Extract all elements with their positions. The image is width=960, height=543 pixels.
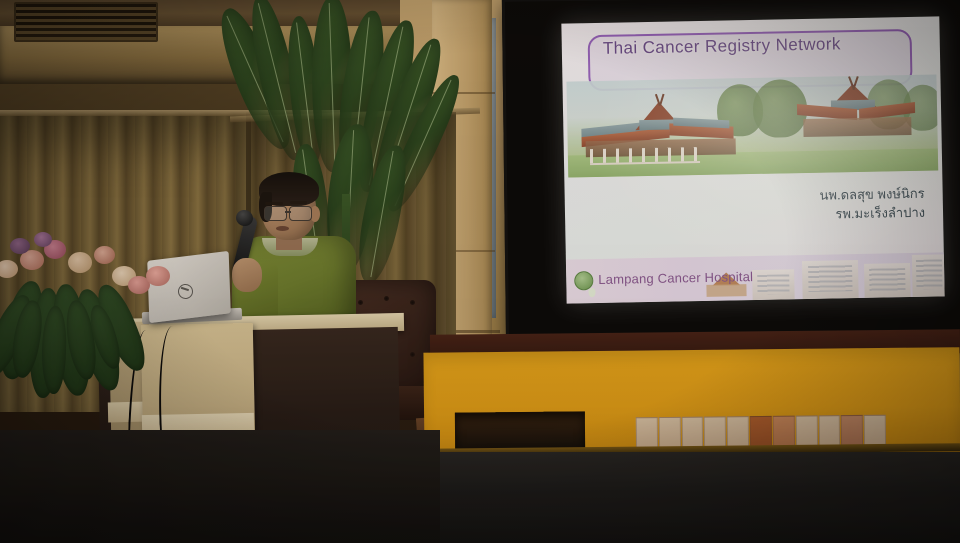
slide-speaker-block: นพ.ดลสุข พงษ์นิกร รพ.มะเร็งลำปาง bbox=[819, 185, 925, 225]
rose-peach bbox=[94, 246, 115, 264]
presentation-room-photo: Thai Cancer Registry Network bbox=[0, 0, 960, 543]
rose-cream bbox=[0, 260, 18, 278]
slide-main-photo bbox=[566, 74, 938, 177]
flower-purple bbox=[10, 238, 30, 254]
foliage-drape bbox=[4, 300, 154, 450]
presentation-slide: Thai Cancer Registry Network bbox=[561, 16, 944, 303]
rose-cream bbox=[68, 252, 92, 273]
air-vent-icon bbox=[14, 2, 158, 42]
footer-building bbox=[864, 263, 911, 298]
speaker-hand bbox=[232, 258, 262, 292]
photo-pavilion-right bbox=[797, 83, 918, 145]
flower-purple bbox=[34, 232, 52, 247]
wall-recess-opening bbox=[455, 411, 585, 450]
speaker-eyebrow bbox=[290, 201, 307, 204]
floor-left bbox=[0, 430, 440, 543]
footer-building bbox=[752, 269, 795, 300]
logo-inner-mark bbox=[588, 288, 595, 297]
slide-speaker-name: นพ.ดลสุข พงษ์นิกร bbox=[819, 185, 924, 206]
footer-building bbox=[912, 254, 945, 297]
rose-pink bbox=[146, 266, 170, 286]
eyeglasses-right-lens bbox=[289, 206, 312, 221]
slide-affiliation: รพ.มะเร็งลำปาง bbox=[820, 204, 925, 225]
footer-building bbox=[802, 260, 859, 299]
eyeglasses-left-lens bbox=[264, 206, 287, 221]
eyeglasses-bridge bbox=[285, 211, 291, 213]
speaker-mouth bbox=[276, 226, 289, 231]
slide-title: Thai Cancer Registry Network bbox=[561, 18, 882, 76]
speaker-eyebrow bbox=[265, 202, 283, 205]
photo-pavilion-left bbox=[581, 96, 742, 157]
slide-footer-text: Lampang Cancer Hospital bbox=[598, 269, 753, 287]
slide-footer: Lampang Cancer Hospital bbox=[566, 252, 945, 303]
hospital-logo-icon bbox=[574, 271, 593, 290]
